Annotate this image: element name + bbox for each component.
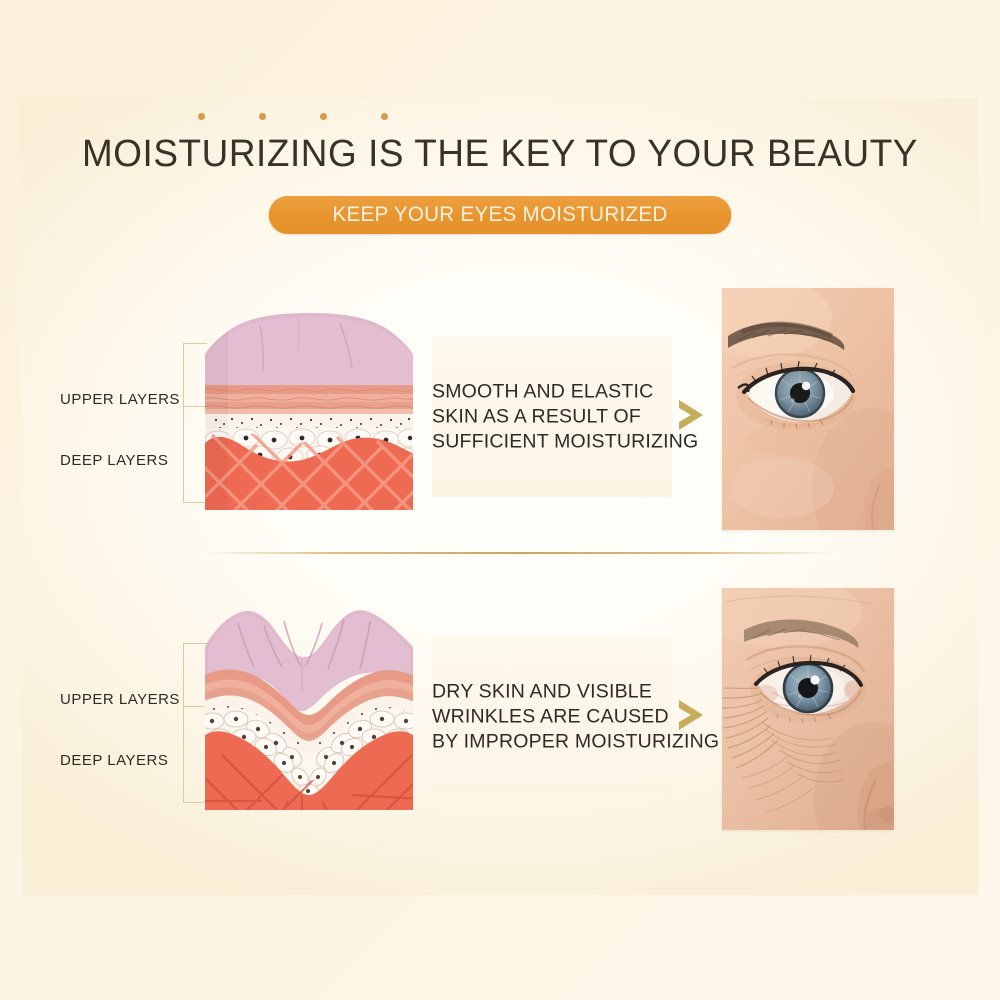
section-divider (200, 552, 840, 554)
label-deep-layers: DEEP LAYERS (60, 752, 168, 769)
label-upper-layers: UPPER LAYERS (60, 691, 180, 708)
label-deep-layers: DEEP LAYERS (60, 452, 168, 469)
chevron-right-icon (676, 698, 706, 732)
decorative-dots-row (198, 110, 388, 122)
page-title: MOISTURIZING IS THE KEY TO YOUR BEAUTY (15, 133, 985, 176)
dot-icon (320, 113, 327, 120)
dot-icon (381, 113, 388, 120)
subtitle-badge: KEEP YOUR EYES MOISTURIZED (269, 196, 732, 234)
caption-line: DRY SKIN AND VISIBLE (432, 680, 668, 705)
infographic-root: MOISTURIZING IS THE KEY TO YOUR BEAUTY K… (0, 0, 1000, 1000)
dot-icon (259, 113, 266, 120)
caption-line: BY IMPROPER MOISTURIZING (432, 730, 668, 755)
caption-card: SMOOTH AND ELASTIC SKIN AS A RESULT OF S… (432, 337, 672, 497)
wrinkled-skin-diagram (202, 595, 416, 813)
section-hydrated: UPPER LAYERS DEEP LAYERS (0, 285, 1000, 535)
label-upper-layers: UPPER LAYERS (60, 391, 180, 408)
caption-line: SMOOTH AND ELASTIC (432, 380, 668, 405)
eye-photo-smooth (722, 288, 894, 530)
section-dry: UPPER LAYERS DEEP LAYERS (0, 585, 1000, 835)
caption-line: SUFFICIENT MOISTURIZING (432, 430, 668, 455)
caption-card: DRY SKIN AND VISIBLE WRINKLES ARE CAUSED… (432, 637, 672, 797)
eye-photo-wrinkled (722, 588, 894, 830)
healthy-skin-diagram (202, 295, 416, 513)
dot-icon (198, 113, 205, 120)
caption-text: DRY SKIN AND VISIBLE WRINKLES ARE CAUSED… (432, 680, 672, 755)
caption-text: SMOOTH AND ELASTIC SKIN AS A RESULT OF S… (432, 380, 672, 455)
caption-line: SKIN AS A RESULT OF (432, 405, 668, 430)
chevron-right-icon (676, 398, 706, 432)
caption-line: WRINKLES ARE CAUSED (432, 705, 668, 730)
